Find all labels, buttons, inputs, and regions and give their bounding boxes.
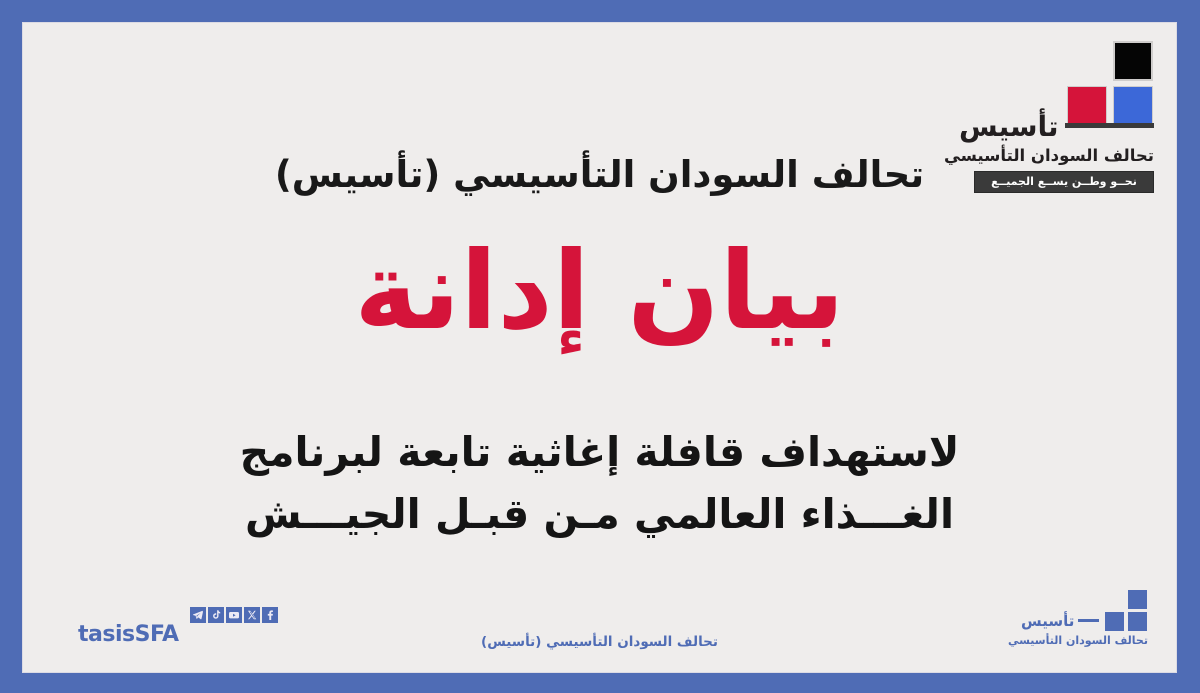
tiktok-icon[interactable] [208,607,224,623]
x-twitter-icon[interactable] [244,607,260,623]
poster-root: تأسيس تحالف السودان التأسيسي نحــو وطــن… [0,0,1200,693]
telegram-icon[interactable] [190,607,206,623]
social-icons-row [78,607,278,623]
footer-logo-square-top-icon [1128,590,1147,609]
poster-headline: بيان إدانة [23,233,1176,352]
subheadline-line-1: لاستهداف قافلة إغاثية تابعة لبرنامج [83,421,1116,483]
organization-title: تحالف السودان التأسيسي (تأسيس) [23,153,1176,196]
poster-subheadline: لاستهداف قافلة إغاثية تابعة لبرنامج الغـ… [83,421,1116,546]
poster-card: تأسيس تحالف السودان التأسيسي نحــو وطــن… [22,22,1177,673]
footer-logo-subtitle: تحالف السودان التأسيسي [1020,634,1148,647]
logo-square-black-icon [1113,41,1153,81]
logo-dash-icon [1065,123,1154,128]
subheadline-line-2: الغـــذاء العالمي مـن قبـل الجيـــش [83,483,1116,545]
footer-logo-dash-icon [1078,619,1099,622]
logo-wordmark: تأسيس [959,113,1059,141]
footer-organization-name: تحالف السودان التأسيسي (تأسيس) [23,634,1176,650]
footer-logo-squares-group [1102,590,1148,632]
youtube-icon[interactable] [226,607,242,623]
organization-logo-footer: تأسيس تحالف السودان التأسيسي [1020,590,1148,652]
footer-logo-wordmark: تأسيس [1021,614,1074,629]
footer-logo-square-bottom-right-icon [1128,612,1147,631]
footer-logo-square-bottom-left-icon [1105,612,1124,631]
logo-wordmark-row: تأسيس [959,113,1154,141]
footer-logo-wordmark-row: تأسيس [1021,614,1099,629]
facebook-icon[interactable] [262,607,278,623]
